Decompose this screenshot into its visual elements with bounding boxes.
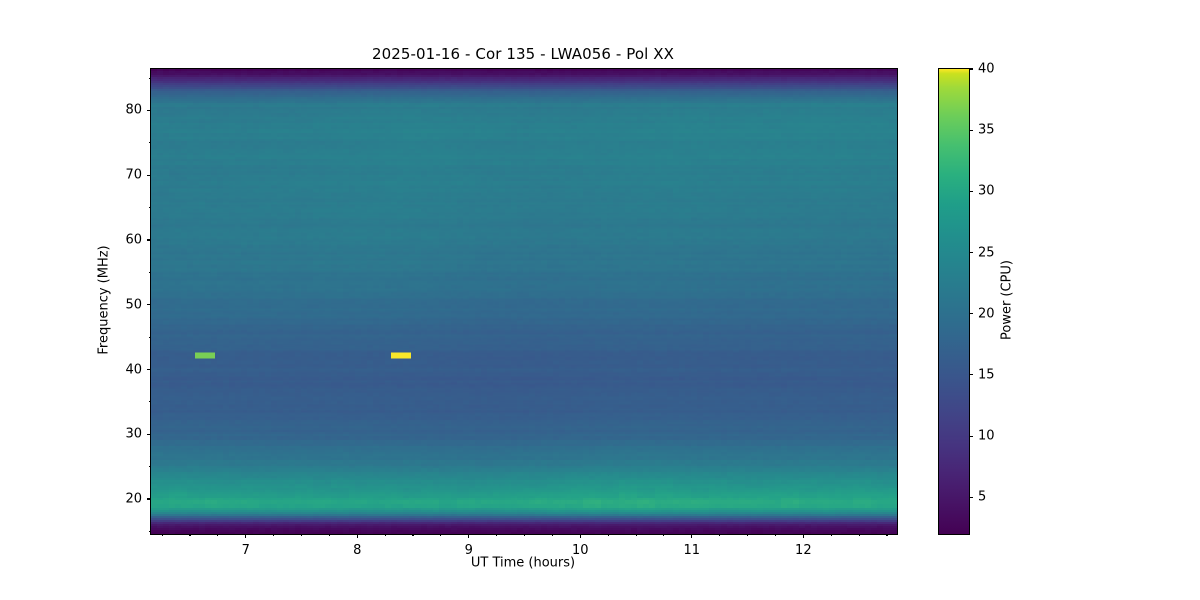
- spectrogram-axes[interactable]: 20304050607080789101112: [150, 68, 898, 535]
- colorbar-tick: [969, 374, 973, 375]
- y-tick-major: [147, 110, 151, 111]
- y-tick-major: [147, 434, 151, 435]
- x-tick-minor: [608, 534, 609, 536]
- x-tick-minor: [273, 534, 274, 536]
- x-tick-minor: [552, 534, 553, 536]
- figure-canvas: 2025-01-16 - Cor 135 - LWA056 - Pol XX 2…: [0, 0, 1200, 600]
- x-tick-label: 7: [242, 543, 250, 558]
- x-axis-label: UT Time (hours): [471, 556, 575, 571]
- x-tick-major: [468, 534, 469, 538]
- y-tick-minor: [149, 531, 151, 532]
- colorbar-label: Power (CPU): [1000, 260, 1015, 340]
- y-tick-minor: [149, 142, 151, 143]
- y-tick-minor: [149, 272, 151, 273]
- x-tick-major: [803, 534, 804, 538]
- x-tick-major: [580, 534, 581, 538]
- y-tick-label: 80: [125, 103, 142, 118]
- y-tick-minor: [149, 401, 151, 402]
- y-tick-label: 20: [125, 492, 142, 507]
- y-tick-label: 70: [125, 168, 142, 183]
- x-tick-minor: [859, 534, 860, 536]
- x-tick-minor: [440, 534, 441, 536]
- x-tick-minor: [301, 534, 302, 536]
- colorbar-tick: [969, 436, 973, 437]
- y-tick-minor: [149, 466, 151, 467]
- y-tick-label: 30: [125, 427, 142, 442]
- colorbar-tick-label: 10: [978, 429, 995, 444]
- x-tick-label: 8: [353, 543, 361, 558]
- y-tick-label: 50: [125, 297, 142, 312]
- x-tick-minor: [719, 534, 720, 536]
- x-tick-major: [245, 534, 246, 538]
- y-tick-label: 40: [125, 362, 142, 377]
- x-tick-major: [357, 534, 358, 538]
- colorbar-tick-label: 30: [978, 184, 995, 199]
- x-tick-minor: [217, 534, 218, 536]
- x-tick-label: 11: [684, 543, 701, 558]
- x-tick-minor: [329, 534, 330, 536]
- x-tick-major: [691, 534, 692, 538]
- colorbar-tick-label: 35: [978, 123, 995, 138]
- x-tick-minor: [747, 534, 748, 536]
- colorbar-tick-label: 20: [978, 306, 995, 321]
- x-tick-minor: [162, 534, 163, 536]
- y-tick-major: [147, 304, 151, 305]
- x-tick-minor: [496, 534, 497, 536]
- y-tick-major: [147, 498, 151, 499]
- y-tick-major: [147, 175, 151, 176]
- x-tick-minor: [663, 534, 664, 536]
- colorbar-tick: [969, 130, 973, 131]
- y-tick-major: [147, 369, 151, 370]
- x-tick-minor: [636, 534, 637, 536]
- colorbar-tick-label: 25: [978, 245, 995, 260]
- x-tick-minor: [412, 534, 413, 536]
- colorbar-tick-label: 5: [978, 490, 986, 505]
- y-axis-label: Frequency (MHz): [97, 245, 112, 354]
- x-tick-minor: [775, 534, 776, 536]
- y-tick-minor: [149, 207, 151, 208]
- x-tick-minor: [886, 534, 887, 536]
- plot-title: 2025-01-16 - Cor 135 - LWA056 - Pol XX: [150, 45, 896, 63]
- colorbar-tick: [969, 313, 973, 314]
- colorbar[interactable]: 510152025303540: [938, 68, 970, 535]
- x-tick-minor: [189, 534, 190, 536]
- y-tick-label: 60: [125, 232, 142, 247]
- x-tick-minor: [524, 534, 525, 536]
- colorbar-tick: [969, 252, 973, 253]
- y-tick-minor: [149, 337, 151, 338]
- x-tick-minor: [831, 534, 832, 536]
- colorbar-tick: [969, 68, 973, 69]
- colorbar-tick: [969, 497, 973, 498]
- colorbar-tick: [969, 191, 973, 192]
- spectrum-pixels: [151, 69, 897, 534]
- x-tick-minor: [385, 534, 386, 536]
- colorbar-tick-label: 15: [978, 367, 995, 382]
- colorbar-tick-label: 40: [978, 62, 995, 77]
- y-tick-major: [147, 239, 151, 240]
- y-tick-minor: [149, 78, 151, 79]
- dynamic-spectrum-image: [151, 69, 897, 534]
- x-tick-label: 12: [795, 543, 812, 558]
